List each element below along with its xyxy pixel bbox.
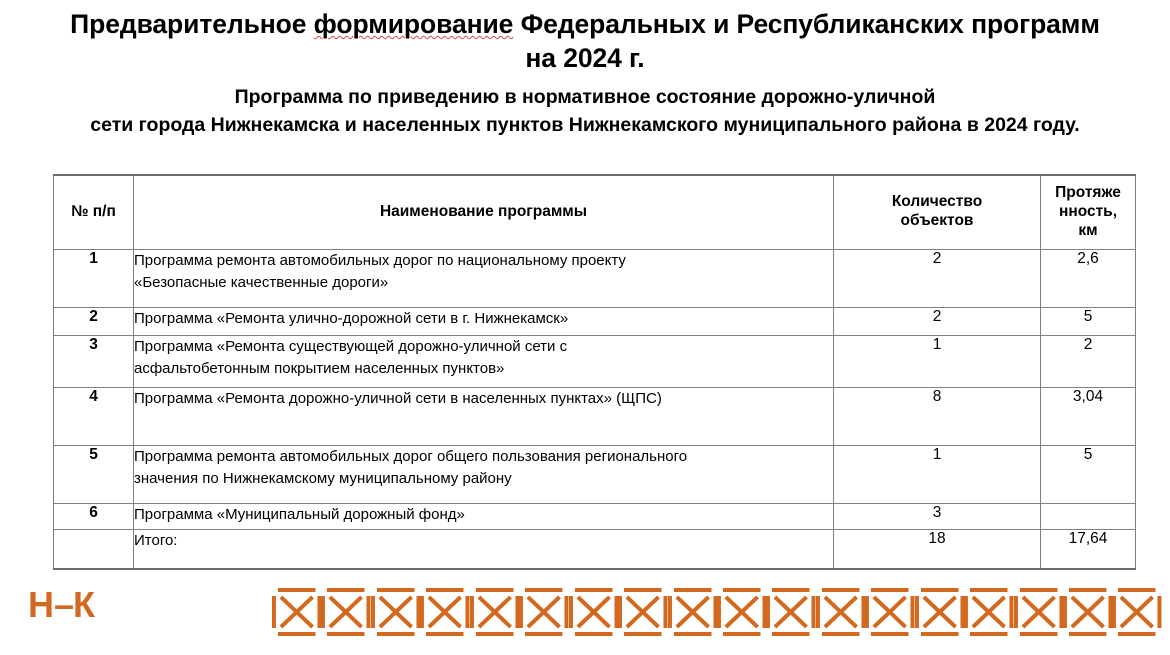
row-number: 2 xyxy=(54,307,134,335)
row-object-count: 8 xyxy=(834,387,1041,445)
x-box-icon xyxy=(519,587,568,637)
decorative-x-pattern xyxy=(272,587,1162,637)
row-object-count: 1 xyxy=(834,335,1041,387)
x-box-icon xyxy=(717,587,766,637)
page-title-misspelled-word: формирование xyxy=(314,9,514,39)
row-number: 5 xyxy=(54,445,134,503)
row-program-name: Программа ремонта автомобильных дорог по… xyxy=(134,249,834,307)
row-program-name-line-1: Программа ремонта автомобильных дорог по… xyxy=(134,250,833,273)
row-program-name-line-2: значения по Нижнекамскому муниципальному… xyxy=(134,468,833,491)
nk-logo-right-letter: К xyxy=(73,584,95,625)
row-program-name-line-1: Программа «Ремонта дорожно-уличной сети … xyxy=(134,388,833,411)
row-program-name-line-2: «Безопасные качественные дороги» xyxy=(134,272,833,295)
page-title: Предварительное формирование Федеральных… xyxy=(0,8,1170,76)
row-object-count: 1 xyxy=(834,445,1041,503)
row-length xyxy=(1041,503,1136,529)
table-row: 3 Программа «Ремонта существующей дорожн… xyxy=(54,335,1136,387)
row-program-name: Программа «Ремонта улично-дорожной сети … xyxy=(134,307,834,335)
page-title-line-2: на 2024 г. xyxy=(18,42,1152,76)
total-object-count: 18 xyxy=(834,529,1041,569)
page-subtitle-line-2: сети города Нижнекамска и населенных пун… xyxy=(30,111,1140,139)
row-program-name: Программа «Ремонта дорожно-уличной сети … xyxy=(134,387,834,445)
row-length: 3,04 xyxy=(1041,387,1136,445)
x-box-icon xyxy=(668,587,717,637)
table-row: 4 Программа «Ремонта дорожно-уличной сет… xyxy=(54,387,1136,445)
x-box-icon xyxy=(816,587,865,637)
x-box-icon xyxy=(1014,587,1063,637)
row-program-name: Программа ремонта автомобильных дорог об… xyxy=(134,445,834,503)
row-number: 4 xyxy=(54,387,134,445)
nk-logo-left-letter: Н xyxy=(28,584,54,625)
total-length: 17,64 xyxy=(1041,529,1136,569)
row-object-count: 2 xyxy=(834,249,1041,307)
x-box-icon xyxy=(321,587,370,637)
nk-logo: Н–К xyxy=(28,587,95,623)
row-program-name-line-1: Программа «Муниципальный дорожный фонд» xyxy=(134,504,833,527)
x-box-icon xyxy=(371,587,420,637)
column-header-length-line-3: км xyxy=(1045,222,1131,241)
column-header-length-line-1: Протяже xyxy=(1045,184,1131,203)
column-header-program-name: Наименование программы xyxy=(134,175,834,249)
x-box-icon xyxy=(272,587,321,637)
x-box-icon xyxy=(618,587,667,637)
table-row: 5 Программа ремонта автомобильных дорог … xyxy=(54,445,1136,503)
table-row: 2 Программа «Ремонта улично-дорожной сет… xyxy=(54,307,1136,335)
row-number: 3 xyxy=(54,335,134,387)
row-program-name-line-1: Программа ремонта автомобильных дорог об… xyxy=(134,446,833,469)
x-box-icon xyxy=(766,587,815,637)
table-total-row: Итого: 18 17,64 xyxy=(54,529,1136,569)
row-number: 1 xyxy=(54,249,134,307)
column-header-number: № п/п xyxy=(54,175,134,249)
row-program-name-line-1: Программа «Ремонта улично-дорожной сети … xyxy=(134,308,833,331)
x-box-icon xyxy=(1063,587,1112,637)
x-box-icon xyxy=(569,587,618,637)
x-box-icon xyxy=(470,587,519,637)
total-row-label: Итого: xyxy=(134,529,834,569)
page-title-part-1: Предварительное xyxy=(70,9,314,39)
page-subtitle-line-1: Программа по приведению в нормативное со… xyxy=(30,83,1140,111)
page-title-part-2: Федеральных и Республиканских программ xyxy=(513,9,1100,39)
row-program-name: Программа «Ремонта существующей дорожно-… xyxy=(134,335,834,387)
row-program-name: Программа «Муниципальный дорожный фонд» xyxy=(134,503,834,529)
slide-footer: Н–К xyxy=(0,569,1170,655)
row-object-count: 3 xyxy=(834,503,1041,529)
row-length: 2,6 xyxy=(1041,249,1136,307)
table-header-row: № п/п Наименование программы Количество … xyxy=(54,175,1136,249)
table-row: 1 Программа ремонта автомобильных дорог … xyxy=(54,249,1136,307)
x-box-icon xyxy=(964,587,1013,637)
row-length: 5 xyxy=(1041,307,1136,335)
nk-logo-dash: – xyxy=(54,584,73,625)
slide-header: Предварительное формирование Федеральных… xyxy=(0,0,1170,139)
column-header-object-count-line-1: Количество xyxy=(838,193,1036,212)
column-header-length: Протяже нность, км xyxy=(1041,175,1136,249)
table-header: № п/п Наименование программы Количество … xyxy=(54,175,1136,249)
x-box-icon xyxy=(420,587,469,637)
page-subtitle: Программа по приведению в нормативное со… xyxy=(0,83,1170,140)
table-body: 1 Программа ремонта автомобильных дорог … xyxy=(54,249,1136,569)
column-header-length-line-2: нность, xyxy=(1045,203,1131,222)
program-table-container: № п/п Наименование программы Количество … xyxy=(53,174,1135,570)
column-header-object-count: Количество объектов xyxy=(834,175,1041,249)
column-header-object-count-line-2: объектов xyxy=(838,212,1036,231)
row-length: 5 xyxy=(1041,445,1136,503)
program-table: № п/п Наименование программы Количество … xyxy=(53,174,1136,570)
row-program-name-line-1: Программа «Ремонта существующей дорожно-… xyxy=(134,336,833,359)
row-object-count: 2 xyxy=(834,307,1041,335)
table-row: 6 Программа «Муниципальный дорожный фонд… xyxy=(54,503,1136,529)
row-length: 2 xyxy=(1041,335,1136,387)
row-program-name-line-2: асфальтобетонным покрытием населенных пу… xyxy=(134,358,833,381)
x-box-icon xyxy=(1112,587,1161,637)
row-number: 6 xyxy=(54,503,134,529)
x-box-icon xyxy=(915,587,964,637)
total-row-number xyxy=(54,529,134,569)
x-box-icon xyxy=(865,587,914,637)
